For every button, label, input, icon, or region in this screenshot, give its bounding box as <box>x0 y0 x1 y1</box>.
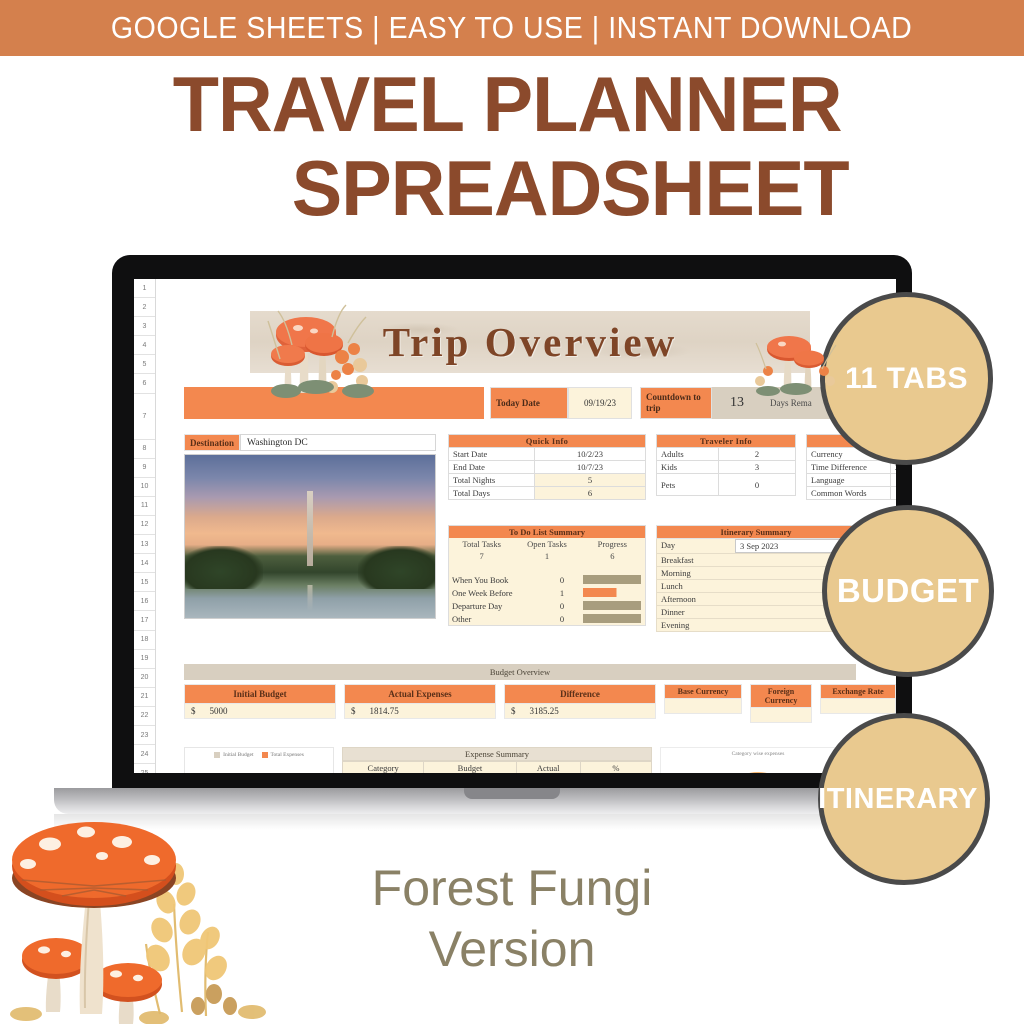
table-row: Adults 2 <box>657 448 796 461</box>
header-accent-bar <box>184 387 484 419</box>
sheet-title-banner: Trip Overview <box>250 311 810 373</box>
destination-label: Destination <box>184 434 240 451</box>
budget-card-value-row[interactable]: $ 5000 <box>184 704 336 719</box>
row-number[interactable]: 14 <box>134 554 155 573</box>
todo-total-value: 6 <box>580 550 645 562</box>
budget-chart-card: Initial Budget Total Expenses <box>184 747 334 773</box>
row-number[interactable]: 8 <box>134 440 155 459</box>
table-row: One Week Before 1 <box>449 586 645 599</box>
quick-info-key: Total Days <box>449 487 535 500</box>
budget-card-value[interactable] <box>664 699 742 714</box>
badge-tabs-label: 11 TABS <box>845 362 968 396</box>
todo-row-count: 1 <box>541 588 583 598</box>
row-number[interactable]: 6 <box>134 374 155 393</box>
budget-card-exchange-rate: Exchange Rate <box>820 684 896 714</box>
row-number[interactable]: 13 <box>134 535 155 554</box>
table-row: Pets 0 <box>657 474 796 496</box>
todo-summary-title: To Do List Summary <box>449 526 645 538</box>
legend-label: Total Expenses <box>271 752 304 758</box>
legend-swatch-total-expenses <box>262 752 268 758</box>
row-number[interactable]: 7 <box>134 394 155 440</box>
quick-info-value: 6 <box>535 487 646 500</box>
itinerary-slot-label: Lunch <box>657 580 735 592</box>
row-number[interactable]: 18 <box>134 631 155 650</box>
row-number[interactable]: 10 <box>134 478 155 497</box>
row-number[interactable]: 23 <box>134 726 155 745</box>
row-number[interactable]: 25 <box>134 764 155 773</box>
destination-photo <box>184 454 436 619</box>
traveler-info-value[interactable]: 2 <box>719 448 796 461</box>
photo-trees-left <box>184 546 263 588</box>
destination-info-value[interactable] <box>891 487 897 500</box>
budget-card-base-currency: Base Currency <box>664 684 742 714</box>
itinerary-slot-label: Morning <box>657 567 735 579</box>
promo-banner: GOOGLE SHEETS | EASY TO USE | INSTANT DO… <box>0 0 1024 56</box>
row-number-gutter: 1 2 3 4 5 6 7 8 9 10 11 12 13 14 15 16 1 <box>134 279 156 773</box>
budget-card-value: 5000 <box>210 706 228 716</box>
table-row: Start Date 10/2/23 <box>449 448 646 461</box>
destination-header: Destination Washington DC <box>184 434 436 451</box>
budget-card-value-row[interactable]: $ 1814.75 <box>344 704 496 719</box>
budget-card-foreign-currency: Foreign Currency <box>750 684 812 723</box>
budget-card-label: Actual Expenses <box>344 684 496 704</box>
row-number[interactable]: 19 <box>134 650 155 669</box>
budget-card-label: Initial Budget <box>184 684 336 704</box>
laptop-trackpad-notch <box>464 788 560 799</box>
row-number[interactable]: 15 <box>134 573 155 592</box>
expense-column-header: Actual <box>516 762 580 774</box>
row-number[interactable]: 5 <box>134 355 155 374</box>
row-number[interactable]: 2 <box>134 298 155 317</box>
row-number[interactable]: 3 <box>134 317 155 336</box>
table-row: When You Book 0 <box>449 573 645 586</box>
monument-reflection <box>308 585 313 611</box>
budget-card-actual: Actual Expenses $ 1814.75 <box>344 684 496 719</box>
quick-info-title: Quick Info <box>449 435 646 448</box>
row-number[interactable]: 4 <box>134 336 155 355</box>
table-row: Other 0 <box>449 612 645 625</box>
row-number[interactable]: 9 <box>134 459 155 478</box>
budget-chart-legend: Initial Budget Total Expenses <box>185 748 333 758</box>
row-number[interactable]: 22 <box>134 707 155 726</box>
badge-itinerary-label: ITINERARY <box>818 783 978 816</box>
itinerary-day-label: Day <box>657 539 735 553</box>
expense-summary-table: Category Budget Actual % Flight $ 1,000.… <box>342 761 652 773</box>
todo-progress-bar <box>583 601 641 610</box>
countdown-value: 13 <box>712 387 762 419</box>
pie-chart-title: Category wise expenses <box>661 748 855 757</box>
row-number[interactable]: 21 <box>134 688 155 707</box>
legend-item: Total Expenses <box>262 752 304 758</box>
budget-card-value[interactable] <box>820 699 896 714</box>
todo-row-count: 0 <box>541 601 583 611</box>
row-number[interactable]: 17 <box>134 611 155 630</box>
countdown-label: Countdown to trip <box>640 387 712 419</box>
promo-banner-text: GOOGLE SHEETS | EASY TO USE | INSTANT DO… <box>111 10 912 46</box>
budget-card-difference: Difference $ 3185.25 <box>504 684 656 719</box>
quick-info-key: Start Date <box>449 448 535 461</box>
today-date-value[interactable]: 09/19/23 <box>568 387 632 419</box>
table-row: Total Nights 5 <box>449 474 646 487</box>
todo-total-value: 7 <box>449 550 514 562</box>
table-header-row: Category Budget Actual % <box>343 762 652 774</box>
budget-card-label: Foreign Currency <box>750 684 812 708</box>
traveler-info-key: Pets <box>657 474 719 496</box>
laptop-screen: 1 2 3 4 5 6 7 8 9 10 11 12 13 14 15 16 1 <box>134 279 896 773</box>
expense-column-header: Budget <box>424 762 516 774</box>
table-row: Common Words <box>807 487 897 500</box>
todo-column-header: Total Tasks <box>449 538 514 550</box>
photo-trees-right <box>358 546 437 588</box>
budget-card-value: 3185.25 <box>530 706 559 716</box>
page-title: TRAVEL PLANNER SPREADSHEET <box>0 62 1024 230</box>
todo-row-count: 0 <box>541 575 583 585</box>
page-title-line-2: SPREADSHEET <box>15 146 1008 230</box>
traveler-info-table: Traveler Info Adults 2 Kids 3 Pets 0 <box>656 434 796 496</box>
row-number[interactable]: 16 <box>134 592 155 611</box>
table-row: Evening <box>656 619 856 632</box>
todo-row-name: Other <box>449 614 541 624</box>
expense-summary-panel: Expense Summary Category Budget Actual %… <box>342 747 652 773</box>
legend-swatch-initial-budget <box>214 752 220 758</box>
table-row: End Date 10/7/23 <box>449 461 646 474</box>
expense-column-header: Category <box>343 762 424 774</box>
badge-tabs[interactable]: 11 TABS <box>820 292 993 465</box>
budget-card-label: Base Currency <box>664 684 742 699</box>
badge-budget-label: BUDGET <box>837 572 979 610</box>
row-number[interactable]: 11 <box>134 497 155 516</box>
quick-info-value[interactable]: 10/2/23 <box>535 448 646 461</box>
todo-column-header: Open Tasks <box>514 538 579 550</box>
traveler-info-key: Adults <box>657 448 719 461</box>
pie-chart <box>719 772 797 773</box>
badge-budget[interactable]: BUDGET <box>822 505 994 677</box>
todo-row-name: One Week Before <box>449 588 541 598</box>
quick-info-value: 5 <box>535 474 646 487</box>
row-number[interactable]: 1 <box>134 279 155 298</box>
laptop-lid: 1 2 3 4 5 6 7 8 9 10 11 12 13 14 15 16 1 <box>112 255 912 795</box>
budget-card-value-row[interactable]: $ 3185.25 <box>504 704 656 719</box>
table-row: Departure Day 0 <box>449 599 645 612</box>
todo-progress-bar <box>583 575 641 584</box>
todo-row-name: When You Book <box>449 575 541 585</box>
washington-monument <box>307 491 313 566</box>
itinerary-day-value: 3 Sep 2023 <box>740 541 778 551</box>
todo-progress-bar <box>583 614 641 623</box>
quick-info-value[interactable]: 10/7/23 <box>535 461 646 474</box>
traveler-info-title: Traveler Info <box>657 435 796 448</box>
page-title-line-1: TRAVEL PLANNER <box>15 62 1008 146</box>
budget-card-value: 1814.75 <box>370 706 399 716</box>
table-row: Time Difference 2 <box>807 461 897 474</box>
itinerary-slot-label: Breakfast <box>657 554 735 566</box>
spreadsheet-grid: Trip Overview <box>156 279 896 773</box>
destination-info-key: Language <box>807 474 891 487</box>
expense-column-header: % <box>580 762 651 774</box>
todo-summary-panel: To Do List Summary Total Tasks Open Task… <box>448 525 646 626</box>
budget-card-label: Difference <box>504 684 656 704</box>
destination-info-key: Common Words <box>807 487 891 500</box>
todo-row-count: 0 <box>541 614 583 624</box>
version-caption-line-2: Version <box>0 919 1024 980</box>
expense-summary-title: Expense Summary <box>342 747 652 761</box>
sheet-title: Trip Overview <box>383 318 677 366</box>
traveler-info-value[interactable]: 0 <box>719 474 796 496</box>
destination-block: Destination Washington DC <box>184 434 436 619</box>
itinerary-slot-label: Dinner <box>657 606 735 618</box>
today-date-label: Today Date <box>490 387 568 419</box>
todo-progress-bar <box>583 588 641 597</box>
budget-card-label: Exchange Rate <box>820 684 896 699</box>
todo-column-header: Progress <box>580 538 645 550</box>
legend-label: Initial Budget <box>223 752 253 758</box>
traveler-info-value[interactable]: 3 <box>719 461 796 474</box>
itinerary-summary-title: Itinerary Summary <box>656 525 856 539</box>
version-caption-line-1: Forest Fungi <box>0 858 1024 919</box>
version-caption: Forest Fungi Version <box>0 858 1024 980</box>
table-row: Total Days 6 <box>449 487 646 500</box>
table-row: Kids 3 <box>657 461 796 474</box>
budget-card-initial: Initial Budget $ 5000 <box>184 684 336 719</box>
destination-info-value[interactable] <box>891 474 897 487</box>
todo-total-value: 1 <box>514 550 579 562</box>
currency-symbol: $ <box>351 706 356 716</box>
todo-row-name: Departure Day <box>449 601 541 611</box>
table-row: Language <box>807 474 897 487</box>
currency-symbol: $ <box>511 706 516 716</box>
traveler-info-key: Kids <box>657 461 719 474</box>
currency-symbol: $ <box>191 706 196 716</box>
row-number[interactable]: 24 <box>134 745 155 764</box>
budget-card-value[interactable] <box>750 708 812 723</box>
quick-info-key: End Date <box>449 461 535 474</box>
itinerary-slot-label: Evening <box>657 619 735 631</box>
itinerary-slot-label: Afternoon <box>657 593 735 605</box>
itinerary-day-row: Day 3 Sep 2023 ▾ <box>656 539 856 554</box>
todo-summary-columns: Total Tasks Open Tasks Progress <box>449 538 645 550</box>
destination-value[interactable]: Washington DC <box>240 434 436 451</box>
row-number[interactable]: 20 <box>134 669 155 688</box>
destination-info-key: Time Difference <box>807 461 891 474</box>
laptop-mockup: 1 2 3 4 5 6 7 8 9 10 11 12 13 14 15 16 1 <box>112 255 912 815</box>
todo-summary-totals: 7 1 6 <box>449 550 645 562</box>
quick-info-table: Quick Info Start Date 10/2/23 End Date 1… <box>448 434 646 500</box>
quick-info-key: Total Nights <box>449 474 535 487</box>
spreadsheet: 1 2 3 4 5 6 7 8 9 10 11 12 13 14 15 16 1 <box>134 279 896 773</box>
row-number[interactable]: 12 <box>134 516 155 535</box>
legend-item: Initial Budget <box>214 752 253 758</box>
todo-spacer <box>449 562 645 573</box>
budget-overview-title: Budget Overview <box>184 664 856 680</box>
